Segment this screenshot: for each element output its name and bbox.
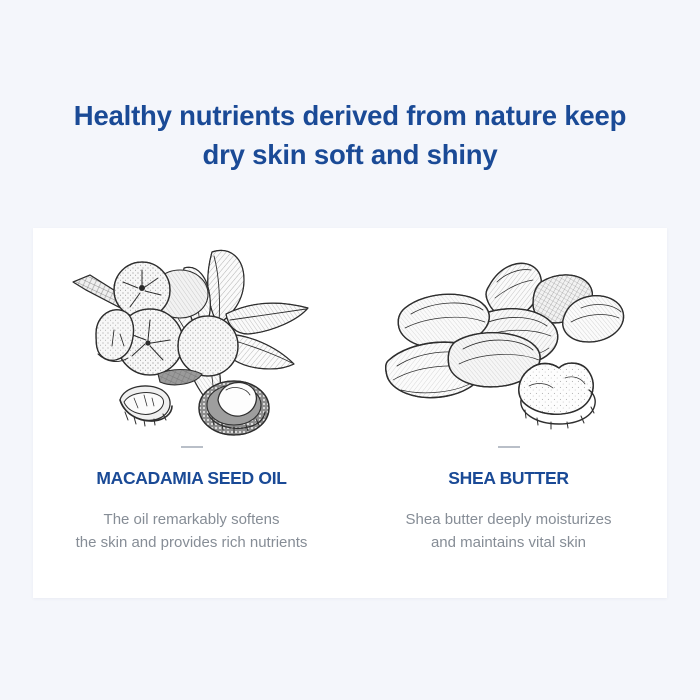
ingredient-description-shea-butter: Shea butter deeply moisturizes and maint… [359,508,659,555]
macadamia-illustration [62,242,322,438]
description-line-2: and maintains vital skin [359,531,659,554]
ingredient-shea-butter: SHEA BUTTER Shea butter deeply moisturiz… [350,228,667,598]
headline-line-1: Healthy nutrients derived from nature ke… [0,96,700,135]
ingredient-title-shea-butter: SHEA BUTTER [448,468,569,489]
page-headline: Healthy nutrients derived from nature ke… [0,96,700,174]
ingredient-macadamia: MACADAMIA SEED OIL The oil remarkably so… [33,228,350,598]
title-divider [498,446,520,448]
description-line-1: Shea butter deeply moisturizes [359,508,659,531]
title-divider [181,446,203,448]
promo-page: Healthy nutrients derived from nature ke… [0,0,700,700]
shea-butter-illustration [379,242,639,438]
headline-line-2: dry skin soft and shiny [0,135,700,174]
ingredient-description-macadamia: The oil remarkably softens the skin and … [42,508,342,555]
ingredient-title-macadamia: MACADAMIA SEED OIL [96,468,286,489]
description-line-1: The oil remarkably softens [42,508,342,531]
description-line-2: the skin and provides rich nutrients [42,531,342,554]
ingredients-card: MACADAMIA SEED OIL The oil remarkably so… [33,228,667,598]
